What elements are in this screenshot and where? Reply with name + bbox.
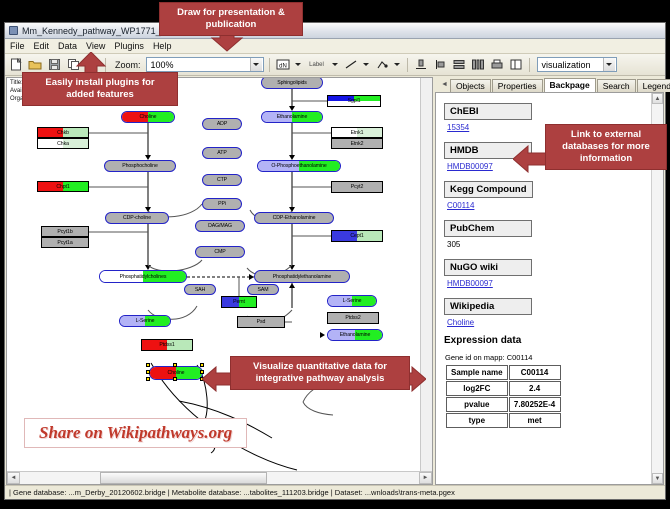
cell-type-label: type	[446, 413, 508, 428]
datanode-icon[interactable]: dN	[275, 57, 291, 73]
pathway-node-sphingolipids[interactable]: Sphingolipids	[261, 78, 323, 89]
status-text: | Gene database: ...m_Derby_20120602.bri…	[9, 488, 455, 497]
pathway-node-ethanolamine_right[interactable]: Ethanolamine	[327, 329, 383, 341]
pathway-node-cdpcholine[interactable]: CDP-choline	[105, 212, 169, 224]
pathway-node-lserine_right[interactable]: L-Serine	[327, 295, 377, 307]
pathway-node-pemt[interactable]: Pemt	[221, 296, 257, 308]
node-label: CDP-choline	[123, 215, 151, 221]
cell-sample-name-label: Sample name	[446, 365, 508, 380]
pathway-node-phosphatidylcholines[interactable]: Phosphatidylcholines	[99, 270, 187, 283]
pathway-node-phosphocholine[interactable]: Phosphocholine	[104, 160, 176, 172]
datanode-dropdown-icon[interactable]	[294, 57, 303, 73]
print-icon[interactable]	[489, 57, 505, 73]
node-label: Choline	[140, 114, 157, 120]
cell-log2fc-value: 2.4	[509, 381, 561, 396]
zoom-combo[interactable]: 100%	[146, 57, 264, 72]
expression-data-title: Expression data	[444, 335, 651, 346]
pathway-node-sah[interactable]: SAH	[184, 284, 216, 295]
node-label: Etnk1	[351, 130, 364, 136]
canvas-horizontal-scrollbar[interactable]: ◄ ►	[7, 471, 432, 484]
tab-properties[interactable]: Properties	[492, 79, 543, 92]
visualization-value: visualization	[542, 60, 591, 70]
node-label: Sgpl1	[348, 98, 361, 104]
tab-objects[interactable]: Objects	[450, 79, 491, 92]
node-label: Phosphatidylcholines	[120, 274, 167, 280]
table-row: pvalue 7.80252E-4	[446, 397, 561, 412]
menu-item-data[interactable]: Data	[58, 41, 77, 51]
tab-search[interactable]: Search	[597, 79, 636, 92]
pathway-node-cdpethanolamine[interactable]: CDP-Ethanolamine	[254, 212, 334, 224]
zoom-value: 100%	[151, 60, 174, 70]
pathway-node-adp[interactable]: ADP	[202, 118, 242, 130]
node-label: Ethanolamine	[340, 332, 371, 338]
tab-legend[interactable]: Legend	[637, 79, 670, 92]
node-label: Chpt1	[56, 184, 69, 190]
stack-icon[interactable]	[451, 57, 467, 73]
title-bar: Mm_Kennedy_pathway_WP1771_45176.gpml	[5, 23, 665, 39]
scroll-left-icon[interactable]: ◄	[7, 472, 20, 484]
visualization-combo[interactable]: visualization	[537, 57, 617, 72]
callout-links-arrow-icon	[513, 145, 549, 173]
menu-item-help[interactable]: Help	[153, 41, 172, 51]
node-label: CMP	[214, 249, 225, 255]
tab-backpage[interactable]: Backpage	[544, 78, 596, 92]
selection-handle[interactable]	[173, 377, 177, 381]
chevron-down-icon[interactable]	[250, 58, 262, 71]
pathway-node-sgpl1[interactable]: Sgpl1	[327, 95, 381, 107]
align-top-icon[interactable]	[413, 57, 429, 73]
selection-handle[interactable]	[146, 370, 150, 374]
svg-text:dN: dN	[279, 64, 287, 70]
node-label: Ptdss2	[345, 315, 360, 321]
node-label: O-Phosphoethanolamine	[271, 163, 326, 169]
pathway-node-lserine_left[interactable]: L-Serine	[119, 315, 171, 327]
hscroll-track[interactable]	[20, 472, 419, 484]
zoom-label: Zoom:	[115, 60, 141, 70]
callout-visualize: Visualize quantitative data for integrat…	[230, 356, 410, 390]
properties-icon[interactable]	[508, 57, 524, 73]
db-header-wikipedia: Wikipedia	[444, 298, 532, 315]
selection-handle[interactable]	[146, 377, 150, 381]
db-header-nugo-wiki: NuGO wiki	[444, 259, 532, 276]
interaction-dropdown-icon[interactable]	[393, 57, 402, 73]
toolbar-separator-3	[407, 58, 408, 72]
node-label: ATP	[217, 150, 226, 156]
pathway-node-ppi[interactable]: PPi	[202, 198, 242, 210]
hscroll-thumb[interactable]	[100, 472, 268, 484]
node-label: Psd	[257, 319, 266, 325]
visualization-chevron-down-icon[interactable]	[603, 58, 615, 71]
node-label: Pcyt2	[351, 184, 363, 190]
expression-table: Sample name C00114 log2FC 2.4 pvalue 7.8…	[445, 364, 562, 429]
pathway-node-phosphatidylethanolamine[interactable]: Phosphatidylethanolamine	[254, 270, 350, 283]
node-label: Chkb	[57, 130, 69, 136]
node-label: Ethanolamine	[277, 114, 308, 120]
save-icon[interactable]	[46, 57, 62, 73]
selection-handle[interactable]	[146, 363, 150, 367]
pathway-node-chkb[interactable]: Chkb	[37, 127, 89, 138]
label-icon-text: Label	[309, 62, 324, 68]
pathway-node-pcyt1a[interactable]: Pcyt1a	[41, 237, 89, 248]
node-label: Chka	[57, 141, 69, 147]
node-label: DAG/MAG	[208, 223, 232, 229]
line-dropdown-icon[interactable]	[362, 57, 371, 73]
callout-plugins: Easily install plugins for added feature…	[22, 72, 178, 106]
pathway-canvas[interactable]: Title: Availa Organi SphingolipidsSgpl1C…	[7, 78, 432, 471]
pathway-node-ctp[interactable]: CTP	[202, 174, 242, 186]
node-label: Choline	[168, 370, 185, 376]
gene-id-line: Gene id on mapp: C00114	[445, 353, 651, 362]
db-link-nugo-wiki[interactable]: HMDB00097	[447, 279, 651, 288]
node-label: Pcyt1a	[57, 240, 72, 246]
pathway-node-ptdss1[interactable]: Ptdss1	[141, 339, 193, 351]
side-panel-tabs: ◄ Objects Properties Backpage Search Leg…	[435, 77, 664, 92]
node-label: Cept1	[350, 233, 363, 239]
node-label: L-Serine	[343, 298, 362, 304]
pathway-node-cept1[interactable]: Cept1	[331, 230, 383, 242]
node-label: ADP	[217, 121, 227, 127]
scroll-down-icon[interactable]: ▼	[652, 473, 663, 484]
tabs-scroll-icon[interactable]: ◄	[441, 81, 448, 88]
node-label: Etnk2	[351, 141, 364, 147]
pathvisio-icon	[9, 26, 18, 35]
pathway-node-atp[interactable]: ATP	[202, 147, 242, 159]
pathway-drawing[interactable]: Title: Availa Organi SphingolipidsSgpl1C…	[7, 78, 432, 471]
table-row: log2FC 2.4	[446, 381, 561, 396]
share-banner: Share on Wikipathways.org	[24, 418, 247, 448]
cell-type-value: met	[509, 413, 561, 428]
status-bar: | Gene database: ...m_Derby_20120602.bri…	[5, 485, 665, 499]
node-label: Phosphocholine	[122, 163, 158, 169]
cell-pvalue-value: 7.80252E-4	[509, 397, 561, 412]
pathway-node-pcyt1b[interactable]: Pcyt1b	[41, 226, 89, 237]
menu-item-view[interactable]: View	[86, 41, 105, 51]
scroll-right-icon[interactable]: ►	[419, 472, 432, 484]
node-label: SAM	[258, 287, 269, 293]
label-icon[interactable]: Label	[306, 57, 328, 73]
pathway-node-chpt1[interactable]: Chpt1	[37, 181, 89, 192]
menu-item-plugins[interactable]: Plugins	[114, 41, 144, 51]
node-label: Pemt	[233, 299, 245, 305]
distribute-icon[interactable]	[470, 57, 486, 73]
pathway-node-pcyt2[interactable]: Pcyt2	[331, 181, 383, 193]
node-label: PPi	[218, 201, 226, 207]
pathway-node-cmp[interactable]: CMP	[195, 246, 245, 258]
interaction-icon[interactable]	[374, 57, 390, 73]
callout-draw: Draw for presentation & publication	[159, 2, 303, 36]
table-row: type met	[446, 413, 561, 428]
node-label: Ptdss1	[159, 342, 174, 348]
node-label: Phosphatidylethanolamine	[273, 274, 331, 280]
db-link-kegg-compound[interactable]: C00114	[447, 201, 651, 210]
align-left-icon[interactable]	[432, 57, 448, 73]
pathway-node-choline_top[interactable]: Choline	[121, 111, 175, 123]
pathway-node-chka[interactable]: Chka	[37, 138, 89, 149]
node-label: CDP-Ethanolamine	[273, 215, 316, 221]
node-label: Sphingolipids	[277, 80, 307, 86]
db-header-pubchem: PubChem	[444, 220, 532, 237]
scroll-up-icon[interactable]: ▲	[652, 93, 663, 104]
table-row: Sample name C00114	[446, 365, 561, 380]
callout-links: Link to external databases for more info…	[545, 124, 667, 170]
pathway-node-ophosphoethanolamine[interactable]: O-Phosphoethanolamine	[257, 160, 341, 172]
pathway-node-ethanolamine_top[interactable]: Ethanolamine	[261, 111, 323, 123]
db-header-chebi: ChEBI	[444, 103, 532, 120]
label-dropdown-icon[interactable]	[331, 57, 340, 73]
cell-sample-name-value: C00114	[509, 365, 561, 380]
line-icon[interactable]	[343, 57, 359, 73]
toolbar-separator-2	[269, 58, 270, 72]
db-header-kegg-compound: Kegg Compound	[444, 181, 533, 198]
cell-pvalue-label: pvalue	[446, 397, 508, 412]
pathway-node-ptdss2[interactable]: Ptdss2	[327, 312, 379, 324]
node-label: CTP	[217, 177, 227, 183]
db-value-pubchem: 305	[447, 240, 651, 249]
new-file-icon[interactable]	[8, 57, 24, 73]
menu-item-file[interactable]: File	[10, 41, 25, 51]
canvas-vertical-scrollbar[interactable]	[420, 78, 432, 471]
selection-handle[interactable]	[173, 363, 177, 367]
pathway-node-etnk2[interactable]: Etnk2	[331, 138, 383, 149]
pathway-node-etnk1[interactable]: Etnk1	[331, 127, 383, 138]
open-folder-icon[interactable]	[27, 57, 43, 73]
pathway-node-psd[interactable]: Psd	[237, 316, 285, 328]
node-label: L-Serine	[136, 318, 155, 324]
toolbar-separator-4	[529, 58, 530, 72]
db-link-wikipedia[interactable]: Choline	[447, 318, 651, 327]
node-label: SAH	[195, 287, 205, 293]
pathway-node-dagmag[interactable]: DAG/MAG	[195, 220, 245, 232]
cell-log2fc-label: log2FC	[446, 381, 508, 396]
menu-item-edit[interactable]: Edit	[34, 41, 50, 51]
pathway-node-sam[interactable]: SAM	[247, 284, 279, 295]
node-label: Pcyt1b	[57, 229, 72, 235]
